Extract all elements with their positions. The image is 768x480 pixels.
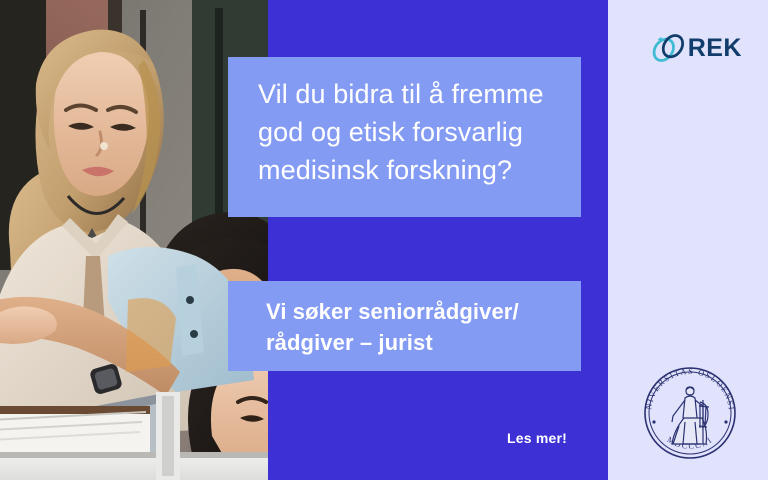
headline-box: Vil du bidra til å fremme god og etisk f… [228,57,581,217]
read-more-link[interactable]: Les mer! [507,430,567,446]
headline-line-2: god og etisk forsvarlig [258,113,561,151]
job-line-1: Vi søker seniorrådgiver/ [266,296,561,327]
recruitment-banner: Vil du bidra til å fremme god og etisk f… [0,0,768,480]
uio-seal: UNIVERSITAS OSLOENSIS MDCCCXI [637,360,743,466]
apollo-with-lyre-figure [672,387,709,444]
headline-line-3: medisinsk forskning? [258,151,561,189]
headline-line-1: Vil du bidra til å fremme [258,75,561,113]
job-title-box: Vi søker seniorrådgiver/ rådgiver – juri… [228,281,581,371]
uio-seal-icon: UNIVERSITAS OSLOENSIS MDCCCXI [637,360,743,466]
job-line-2: rådgiver – jurist [266,327,561,358]
rek-logo[interactable]: REK [650,26,742,70]
rek-wordmark: REK [688,36,742,61]
rek-interlocking-rings-icon [650,28,687,68]
